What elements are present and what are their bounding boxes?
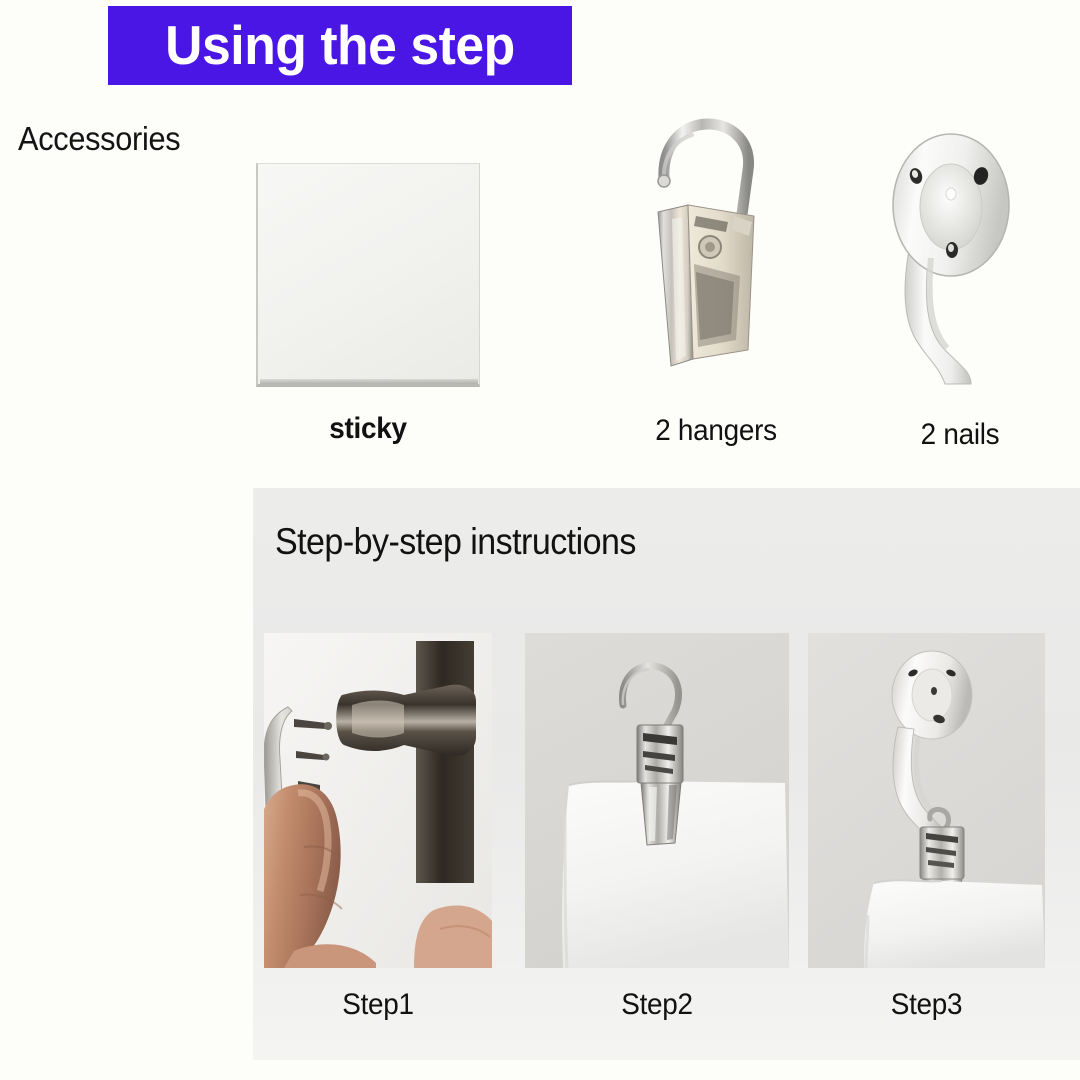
step-photo-1: [264, 633, 492, 968]
step-caption-2: Step2: [534, 988, 780, 1022]
accessory-caption-sticky: sticky: [264, 412, 472, 446]
instructions-title: Step-by-step instructions: [275, 521, 636, 563]
accessories-section-label: Accessories: [18, 120, 180, 158]
wall-hook-nail-icon: [885, 132, 1020, 394]
hanger-clip-icon: [636, 104, 796, 389]
accessory-caption-hangers: 2 hangers: [623, 414, 809, 448]
step-caption-3: Step3: [816, 988, 1036, 1022]
step-photo-2: [525, 633, 789, 968]
page-title: Using the step: [165, 18, 515, 73]
accessory-caption-nails: 2 nails: [876, 418, 1043, 452]
header-banner: Using the step: [108, 6, 572, 85]
adhesive-pad-icon: [256, 163, 480, 387]
step-caption-1: Step1: [272, 988, 484, 1022]
instructions-panel: Step-by-step instructions: [253, 488, 1080, 1060]
step-photo-3: [808, 633, 1045, 968]
